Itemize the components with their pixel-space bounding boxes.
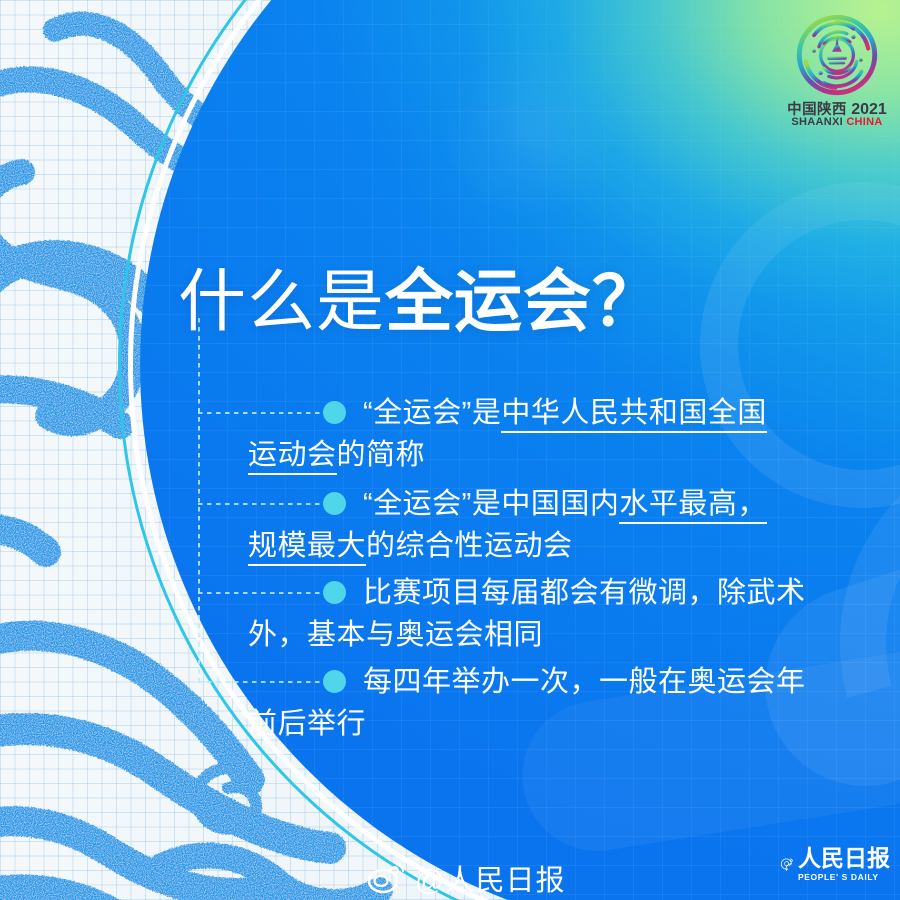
- peoples-daily-en: PEOPLE' S DAILY: [798, 873, 890, 882]
- peoples-daily-badge[interactable]: 人民日报 PEOPLE' S DAILY: [780, 840, 890, 888]
- bullet-4-line1-plain: 每四年举办一次，一般在奥运会年: [363, 666, 806, 698]
- bullet-dot-4: [323, 670, 346, 693]
- peoples-daily-text: 人民日报 PEOPLE' S DAILY: [798, 847, 890, 882]
- bullet-1-line2-plain: 的简称: [337, 439, 426, 471]
- poster-root: 什么是全运会？ “全运会”是中华人民共和国全国 运动会的简称 “全运会”是中国国…: [0, 0, 900, 900]
- games-logo-region-en: SHAANXI: [791, 116, 843, 128]
- at-speech-bubble-icon: [780, 844, 794, 884]
- peoples-daily-cn: 人民日报: [798, 847, 890, 870]
- games-logo-en-text: SHAANXI CHINA: [783, 116, 891, 128]
- bullet-list: “全运会”是中华人民共和国全国 运动会的简称 “全运会”是中国国内水平最高， 规…: [0, 0, 900, 900]
- bullet-1-line1-underline: 中华人民共和国全国: [501, 397, 767, 433]
- bullet-dot-3: [323, 581, 346, 604]
- bullet-3-line2-plain: 外，基本与奥运会相同: [248, 619, 543, 651]
- bullet-dot-1: [323, 401, 346, 424]
- weibo-handle-text: @人民日报: [415, 857, 565, 899]
- bullet-2-line1-plain: “全运会”是中国国内: [363, 488, 619, 520]
- bullet-2-line2-plain: 的综合性运动会: [366, 530, 573, 562]
- bullet-4-line2-plain: 前后举行: [248, 708, 366, 740]
- games-logo-country-en: CHINA: [846, 116, 882, 128]
- weibo-icon: [368, 862, 406, 894]
- bullet-3-line1-plain: 比赛项目每届都会有微调，除武术: [363, 577, 806, 609]
- bullet-1-line1-plain: “全运会”是: [363, 397, 501, 429]
- weibo-handle[interactable]: @人民日报: [368, 858, 565, 898]
- shaanxi-2021-emblem-icon: [796, 14, 878, 96]
- bullet-1-line2-underline: 运动会: [248, 439, 337, 475]
- games-logo: 中国陕西 2021 SHAANXI CHINA: [783, 14, 891, 126]
- bullet-2-line2-underline: 规模最大: [248, 530, 366, 566]
- bullet-dot-2: [323, 492, 346, 515]
- bullet-2-line1-underline: 水平最高，: [619, 488, 767, 524]
